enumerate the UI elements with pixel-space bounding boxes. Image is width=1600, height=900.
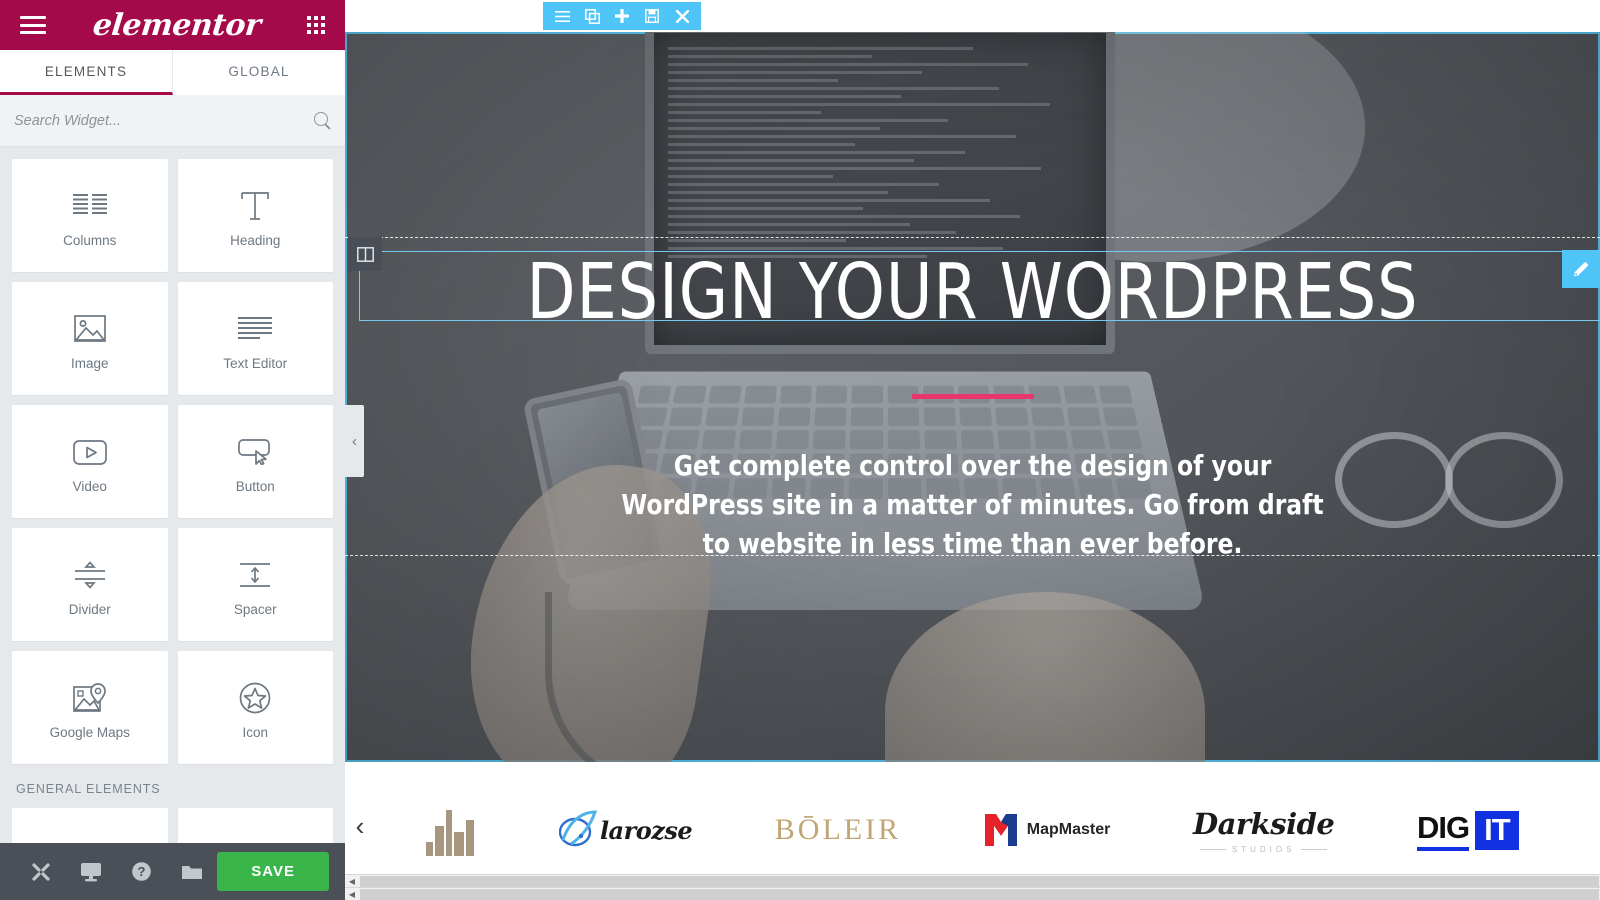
widget-label: Divider — [69, 602, 111, 617]
save-button[interactable]: SAVE — [217, 852, 329, 891]
carousel-prev-button[interactable]: ‹ — [349, 812, 371, 840]
svg-text:?: ? — [138, 864, 146, 879]
help-question-icon[interactable]: ? — [117, 861, 167, 882]
scroll-track[interactable] — [360, 889, 1599, 900]
mapmaster-mark-icon — [984, 812, 1018, 848]
larozse-swoosh-icon — [557, 810, 599, 850]
elementor-panel: elementor ELEMENTS GLOBAL — [0, 0, 345, 900]
section-duplicate-button[interactable] — [577, 2, 607, 30]
panel-footer: ? SAVE — [0, 843, 345, 900]
boleir-logo-text: BŌLEIR — [775, 813, 901, 847]
close-x-icon — [676, 10, 689, 23]
logo-item[interactable]: Darkside STUDIOS — [1193, 795, 1334, 865]
widget-label: Columns — [63, 233, 116, 248]
widget-search-bar — [0, 95, 345, 147]
heading-t-icon — [239, 183, 271, 229]
logo-item[interactable]: larozse — [557, 795, 692, 865]
google-maps-icon — [73, 675, 107, 721]
widget-label: Icon — [242, 725, 268, 740]
pencil-edit-icon — [1572, 260, 1591, 279]
widget-button[interactable]: Button — [178, 405, 334, 518]
responsive-monitor-icon[interactable] — [66, 862, 116, 882]
darkside-logo-subtext: STUDIOS — [1193, 845, 1334, 854]
search-input[interactable] — [14, 113, 314, 129]
columns-icon — [73, 183, 107, 229]
spacer-icon — [238, 552, 272, 598]
widget-label: Heading — [230, 233, 280, 248]
skyline-logo-icon — [426, 804, 474, 856]
widget-label: Image — [71, 356, 109, 371]
floppy-save-icon — [645, 9, 659, 23]
elementor-logo: elementor — [91, 8, 262, 43]
photo-cable — [545, 592, 845, 762]
hero-section[interactable]: DESIGN YOUR WORDPRESS Get complete contr… — [345, 32, 1600, 762]
general-elements-title: GENERAL ELEMENTS — [12, 764, 333, 808]
widget-icon[interactable]: Icon — [178, 651, 334, 764]
two-column-icon — [357, 247, 374, 262]
tab-global[interactable]: GLOBAL — [173, 50, 345, 95]
editor-canvas: DESIGN YOUR WORDPRESS Get complete contr… — [345, 0, 1600, 900]
widget-image[interactable]: Image — [12, 282, 168, 395]
video-play-icon — [73, 429, 107, 475]
logo-item[interactable]: DIG IT — [1417, 795, 1519, 865]
logo-item[interactable]: BŌLEIR — [775, 795, 901, 865]
settings-wrench-icon — [31, 862, 51, 882]
settings-icon[interactable] — [16, 862, 66, 882]
darkside-logo: Darkside STUDIOS — [1193, 807, 1334, 854]
digit-logo-text-dig: DIG — [1417, 810, 1469, 851]
column-handle[interactable] — [348, 237, 382, 271]
digit-logo: DIG IT — [1417, 810, 1519, 851]
widget-label: Text Editor — [223, 356, 287, 371]
widget-divider[interactable]: Divider — [12, 528, 168, 641]
grid-apps-icon[interactable] — [307, 16, 325, 34]
widget-heading[interactable]: Heading — [178, 159, 334, 272]
widget-spacer[interactable]: Spacer — [178, 528, 334, 641]
basic-widgets-grid: Columns Heading — [12, 159, 333, 764]
inner-horizontal-scrollbar[interactable]: ◀ — [345, 874, 1600, 887]
widget-video[interactable]: Video — [12, 405, 168, 518]
hero-content: DESIGN YOUR WORDPRESS Get complete contr… — [345, 32, 1600, 564]
scroll-left-arrow-icon[interactable]: ◀ — [345, 875, 359, 888]
widget-label: Video — [73, 479, 107, 494]
tab-elements[interactable]: ELEMENTS — [0, 50, 173, 95]
scroll-left-arrow-icon[interactable]: ◀ — [345, 888, 359, 900]
hero-heading[interactable]: DESIGN YOUR WORDPRESS — [395, 254, 1550, 331]
widget-columns[interactable]: Columns — [12, 159, 168, 272]
mapmaster-logo: MapMaster — [984, 812, 1111, 848]
search-icon[interactable] — [314, 112, 331, 129]
plus-icon — [615, 9, 629, 23]
library-folder-icon[interactable] — [167, 863, 217, 881]
scroll-track[interactable] — [360, 876, 1599, 887]
button-cursor-icon — [238, 429, 272, 475]
panel-header: elementor — [0, 0, 345, 50]
hamburger-icon[interactable] — [20, 16, 46, 34]
photo-hand-right — [885, 592, 1205, 762]
widget-google-maps[interactable]: Google Maps — [12, 651, 168, 764]
panel-collapse-toggle[interactable]: ‹ — [345, 405, 364, 477]
logo-item[interactable]: MapMaster — [984, 795, 1111, 865]
section-delete-button[interactable] — [667, 2, 697, 30]
section-toolbar — [543, 2, 701, 30]
digit-logo-text-it: IT — [1475, 811, 1519, 850]
section-edit-button[interactable] — [547, 2, 577, 30]
canvas-top-strip — [345, 0, 1600, 32]
hamburger-icon — [555, 10, 570, 23]
widget-label: Button — [236, 479, 275, 494]
section-save-button[interactable] — [637, 2, 667, 30]
text-editor-icon — [238, 306, 272, 352]
larozse-logo-text: larozse — [600, 816, 692, 845]
widget-list[interactable]: Columns Heading — [0, 147, 345, 900]
larozse-logo: larozse — [557, 810, 692, 850]
star-icon — [239, 675, 271, 721]
logo-item[interactable] — [426, 795, 474, 865]
mapmaster-logo-text: MapMaster — [1027, 821, 1111, 839]
divider-icon — [73, 552, 107, 598]
hero-divider[interactable] — [912, 394, 1034, 399]
section-add-button[interactable] — [607, 2, 637, 30]
edit-widget-button[interactable] — [1562, 250, 1600, 288]
panel-tabs: ELEMENTS GLOBAL — [0, 50, 345, 95]
outer-horizontal-scrollbar[interactable]: ◀ — [345, 887, 1600, 900]
widget-text-editor[interactable]: Text Editor — [178, 282, 334, 395]
duplicate-icon — [585, 9, 600, 24]
widget-label: Spacer — [234, 602, 277, 617]
hero-paragraph[interactable]: Get complete control over the design of … — [619, 447, 1327, 564]
image-icon — [74, 306, 106, 352]
darkside-logo-text: Darkside — [1193, 807, 1334, 841]
widget-label: Google Maps — [50, 725, 130, 740]
